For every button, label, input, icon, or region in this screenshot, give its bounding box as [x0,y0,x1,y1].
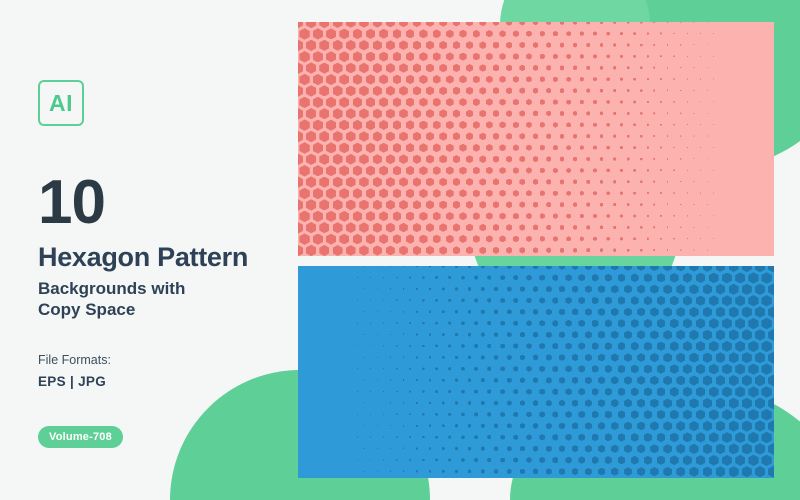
page-subtitle: Backgrounds with Copy Space [38,278,288,321]
hexagon-halftone-pattern-pink [298,22,774,256]
hexagon-halftone-pattern-blue [298,266,774,478]
file-formats-value: EPS | JPG [38,374,288,389]
page-subtitle-line-1: Backgrounds with [38,278,288,299]
volume-badge: Volume-708 [38,426,123,448]
file-formats-label: File Formats: [38,353,288,367]
adobe-illustrator-icon: AI [38,80,84,126]
page-title: Hexagon Pattern [38,243,288,271]
page-subtitle-line-2: Copy Space [38,299,288,320]
blue-hexagon-halftone-preview [298,266,774,478]
adobe-illustrator-label: AI [49,90,73,117]
info-column: AI 10 Hexagon Pattern Backgrounds with C… [38,80,288,448]
pink-hexagon-halftone-preview [298,22,774,256]
pattern-count: 10 [38,174,288,233]
poster-canvas: AI 10 Hexagon Pattern Backgrounds with C… [0,0,800,500]
